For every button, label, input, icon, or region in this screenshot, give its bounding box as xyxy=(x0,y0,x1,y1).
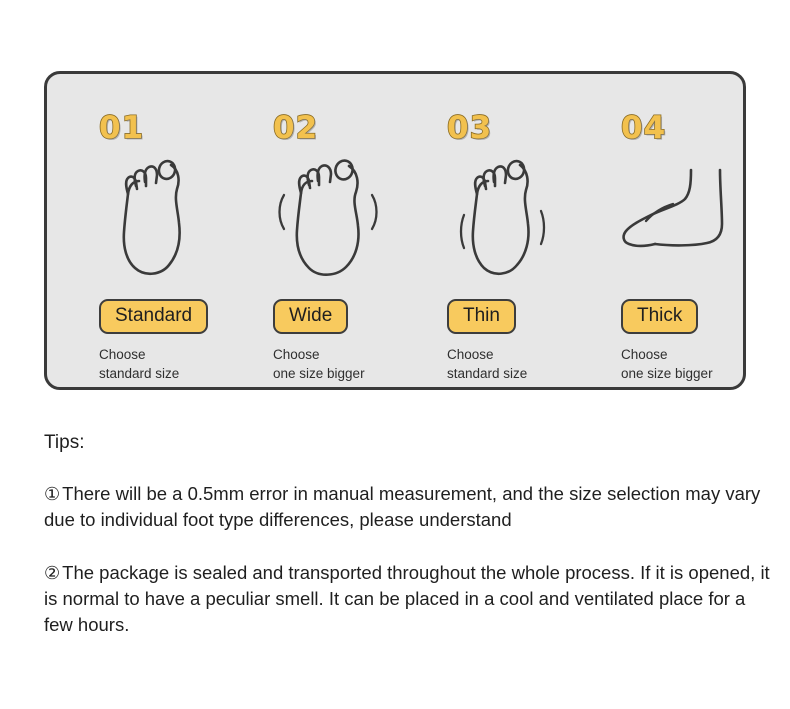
size-guide-columns: 01 Standard Choose standard size 02 xyxy=(47,74,743,387)
step-number-03: 03 xyxy=(447,113,492,144)
foot-profile-thick-icon xyxy=(621,153,739,283)
tip-marker-2: ② xyxy=(44,561,60,587)
tip-text-2: The package is sealed and transported th… xyxy=(44,562,770,636)
size-option-wide[interactable]: 02 Wide Choose one size bigger xyxy=(221,74,395,387)
caption-thick: Choose one size bigger xyxy=(621,345,713,383)
tips-heading: Tips: xyxy=(44,432,776,455)
foot-sole-wide-icon xyxy=(273,153,391,283)
tip-marker-1: ① xyxy=(44,482,60,508)
type-button-thick[interactable]: Thick xyxy=(621,299,698,334)
caption-thin: Choose standard size xyxy=(447,345,527,383)
type-button-wide[interactable]: Wide xyxy=(273,299,348,334)
tips-section: Tips: ①There will be a 0.5mm error in ma… xyxy=(44,432,776,639)
tip-item-2: ②The package is sealed and transported t… xyxy=(44,560,776,639)
size-guide-card: 01 Standard Choose standard size 02 xyxy=(44,71,746,390)
size-option-thick[interactable]: 04 Thick Choose one size bigger xyxy=(569,74,743,387)
caption-wide: Choose one size bigger xyxy=(273,345,365,383)
size-option-standard[interactable]: 01 Standard Choose standard size xyxy=(47,74,221,387)
step-number-01: 01 xyxy=(99,113,144,144)
foot-sole-standard-icon xyxy=(99,153,217,283)
foot-sole-thin-icon xyxy=(447,153,565,283)
step-number-04: 04 xyxy=(621,113,666,144)
tip-text-1: There will be a 0.5mm error in manual me… xyxy=(44,483,760,531)
type-button-standard[interactable]: Standard xyxy=(99,299,208,334)
tip-item-1: ①There will be a 0.5mm error in manual m… xyxy=(44,481,776,534)
type-button-thin[interactable]: Thin xyxy=(447,299,516,334)
size-option-thin[interactable]: 03 Thin Choose standard size xyxy=(395,74,569,387)
step-number-02: 02 xyxy=(273,113,318,144)
caption-standard: Choose standard size xyxy=(99,345,179,383)
